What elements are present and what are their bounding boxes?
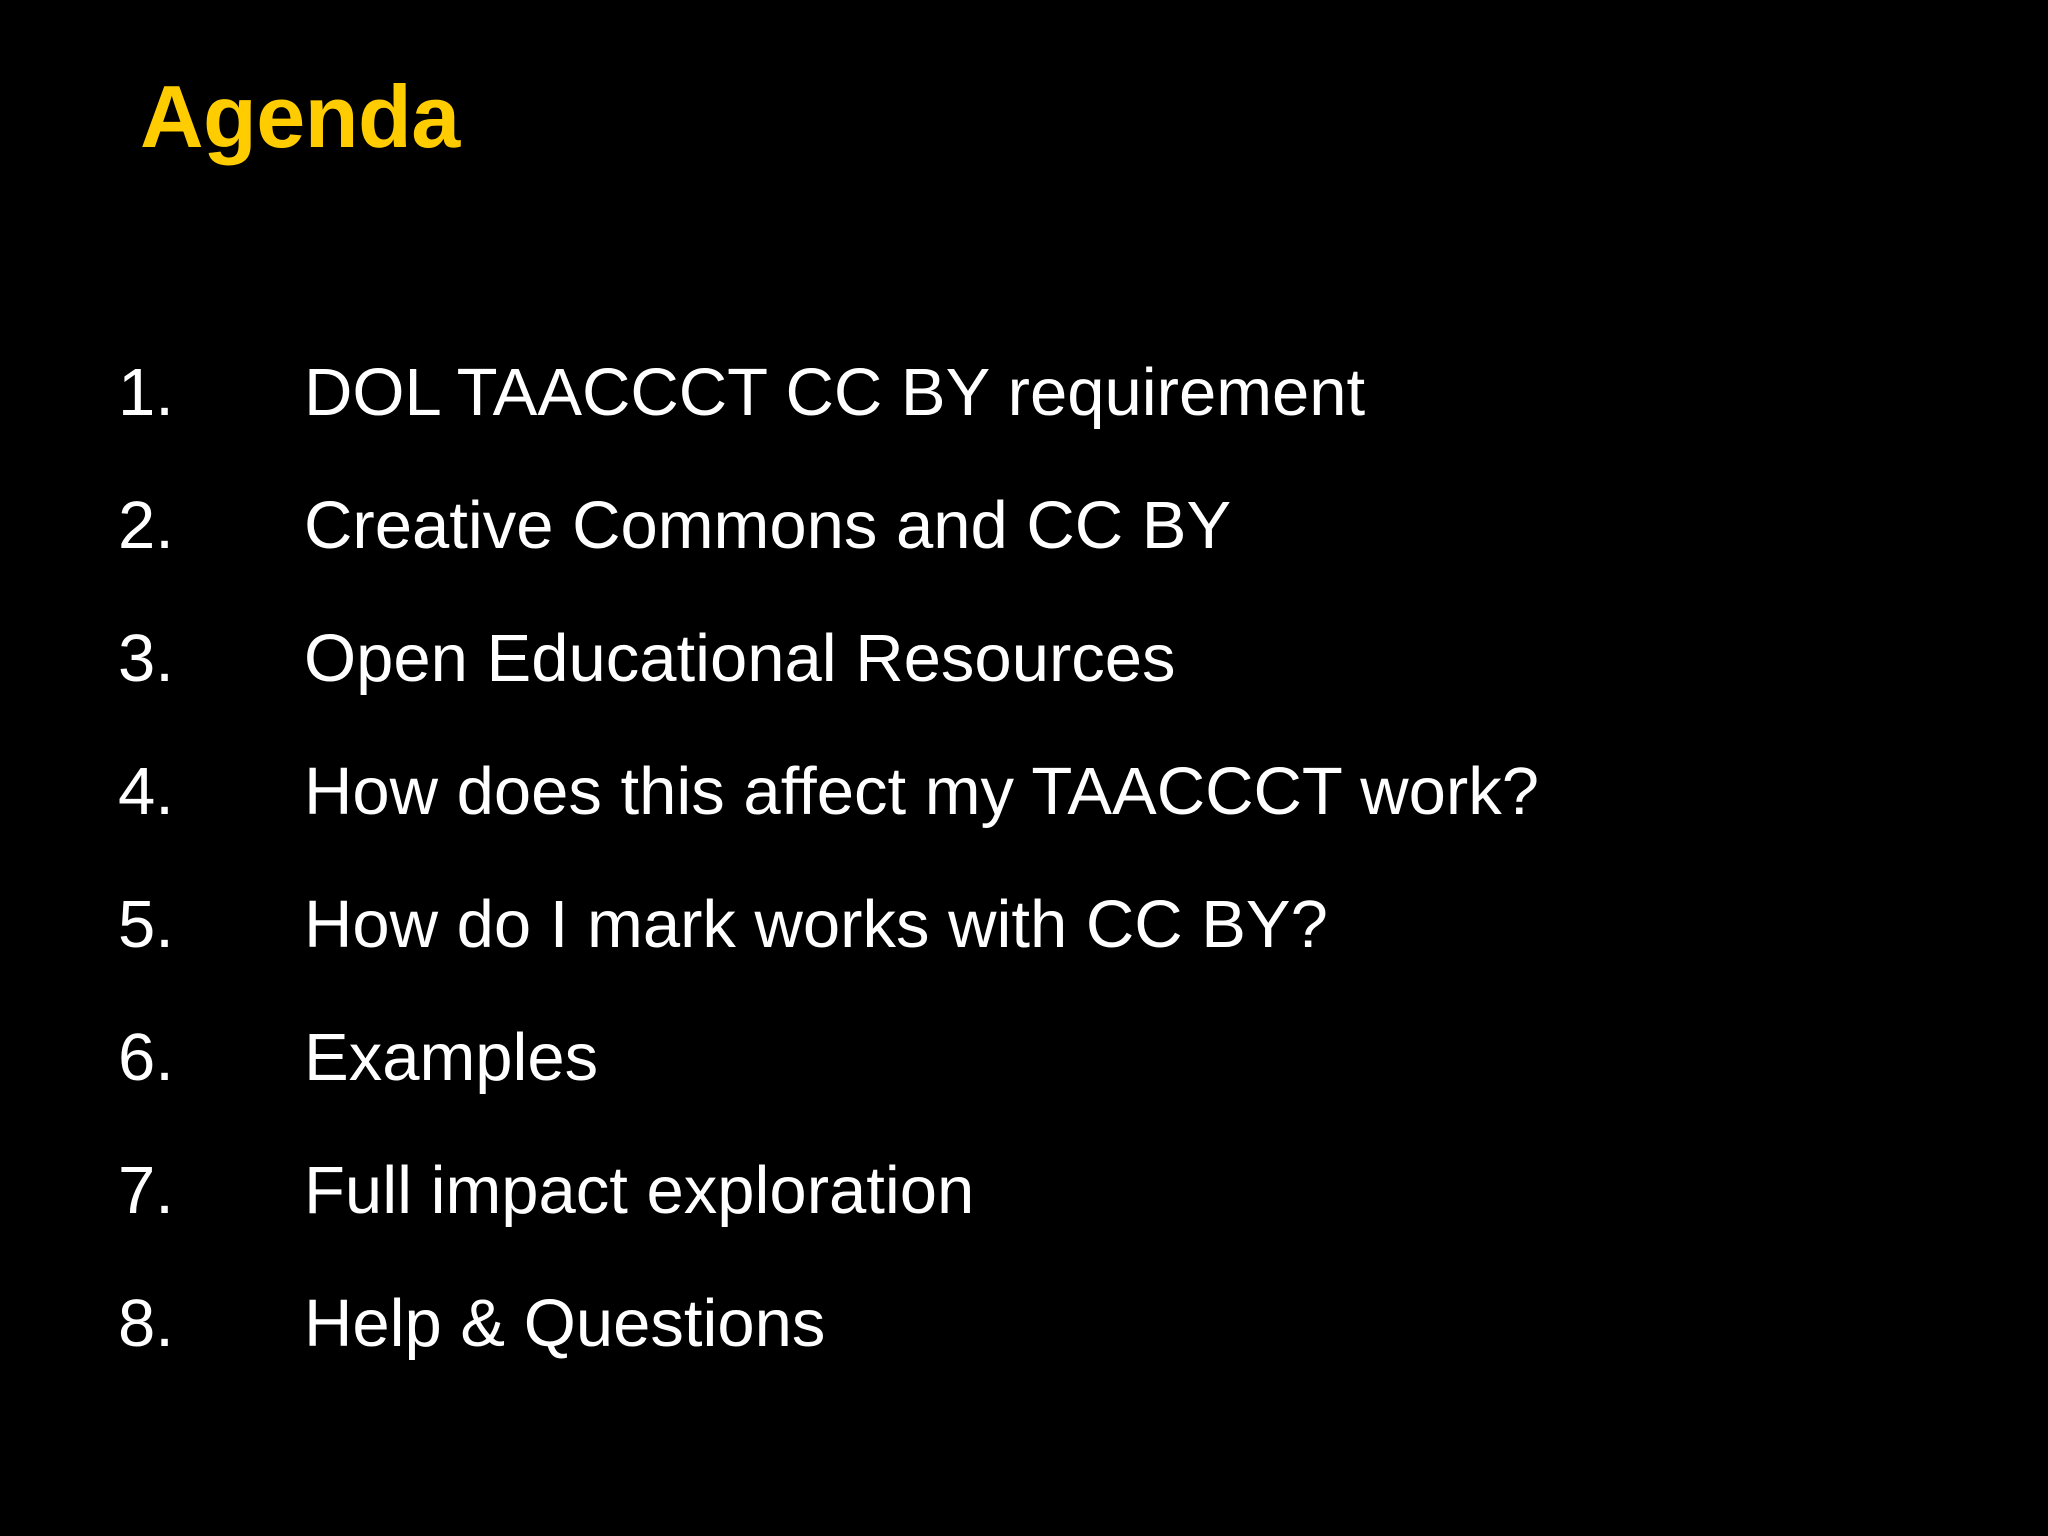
list-item: 5. How do I mark works with CC BY? xyxy=(118,858,1998,991)
list-item-label: How does this affect my TAACCCT work? xyxy=(304,725,1998,858)
list-item-number: 2. xyxy=(118,459,304,592)
list-item-label: DOL TAACCCT CC BY requirement xyxy=(304,326,1998,459)
list-item-label: Help & Questions xyxy=(304,1257,1998,1390)
list-item-number: 8. xyxy=(118,1257,304,1390)
list-item: 6. Examples xyxy=(118,991,1998,1124)
list-item-label: Examples xyxy=(304,991,1998,1124)
list-item-number: 6. xyxy=(118,991,304,1124)
list-item: 7. Full impact exploration xyxy=(118,1124,1998,1257)
list-item-label: Creative Commons and CC BY xyxy=(304,459,1998,592)
list-item-number: 1. xyxy=(118,326,304,459)
list-item-label: How do I mark works with CC BY? xyxy=(304,858,1998,991)
list-item-label: Open Educational Resources xyxy=(304,592,1998,725)
list-item: 2. Creative Commons and CC BY xyxy=(118,459,1998,592)
agenda-list: 1. DOL TAACCCT CC BY requirement 2. Crea… xyxy=(118,326,1998,1390)
list-item-label: Full impact exploration xyxy=(304,1124,1998,1257)
list-item: 3. Open Educational Resources xyxy=(118,592,1998,725)
list-item: 8. Help & Questions xyxy=(118,1257,1998,1390)
list-item-number: 3. xyxy=(118,592,304,725)
list-item: 4. How does this affect my TAACCCT work? xyxy=(118,725,1998,858)
list-item-number: 7. xyxy=(118,1124,304,1257)
list-item: 1. DOL TAACCCT CC BY requirement xyxy=(118,326,1998,459)
list-item-number: 5. xyxy=(118,858,304,991)
presentation-slide: Agenda 1. DOL TAACCCT CC BY requirement … xyxy=(0,0,2048,1536)
list-item-number: 4. xyxy=(118,725,304,858)
page-title: Agenda xyxy=(140,72,460,162)
